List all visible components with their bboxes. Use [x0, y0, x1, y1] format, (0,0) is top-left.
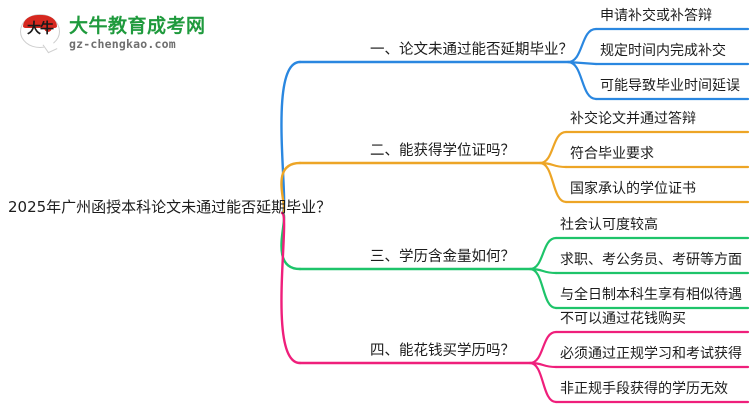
leaf-label-4-3[interactable]: 非正规手段获得的学历无效: [560, 380, 728, 399]
connector-line: [540, 163, 566, 202]
leaf-label-3-2[interactable]: 求职、考公务员、考研等方面: [560, 251, 742, 270]
connector-line: [281, 213, 300, 363]
leaf-label-2-3[interactable]: 国家承认的学位证书: [570, 180, 696, 199]
leaf-label-1-1[interactable]: 申请补交或补答辩: [600, 7, 712, 26]
connector-line: [568, 62, 596, 99]
leaf-label-2-1[interactable]: 补交论文并通过答辩: [570, 110, 696, 129]
connector-line: [530, 269, 556, 308]
connector-line: [530, 332, 556, 363]
connector-line: [540, 132, 566, 163]
leaf-label-4-1[interactable]: 不可以通过花钱购买: [560, 310, 686, 329]
branch-label-3[interactable]: 三、学历含金量如何？: [370, 247, 515, 267]
leaf-label-3-3[interactable]: 与全日制本科生享有相似待遇: [560, 286, 742, 305]
root-node-label[interactable]: 2025年广州函授本科论文未通过能否延期毕业？: [8, 196, 331, 218]
branch-label-2[interactable]: 二、能获得学位证吗？: [370, 141, 515, 161]
branch-label-4[interactable]: 四、能花钱买学历吗？: [370, 341, 515, 361]
leaf-label-1-2[interactable]: 规定时间内完成补交: [600, 42, 726, 61]
leaf-label-3-1[interactable]: 社会认可度较高: [560, 216, 658, 235]
branch-label-1[interactable]: 一、论文未通过能否延期毕业？: [370, 40, 573, 60]
connector-line: [281, 62, 300, 213]
leaf-label-1-3[interactable]: 可能导致毕业时间延误: [600, 77, 740, 96]
leaf-label-4-2[interactable]: 必须通过正规学习和考试获得: [560, 345, 742, 364]
connector-line: [530, 363, 556, 402]
leaf-label-2-2[interactable]: 符合毕业要求: [570, 145, 654, 164]
connector-line: [530, 238, 556, 269]
